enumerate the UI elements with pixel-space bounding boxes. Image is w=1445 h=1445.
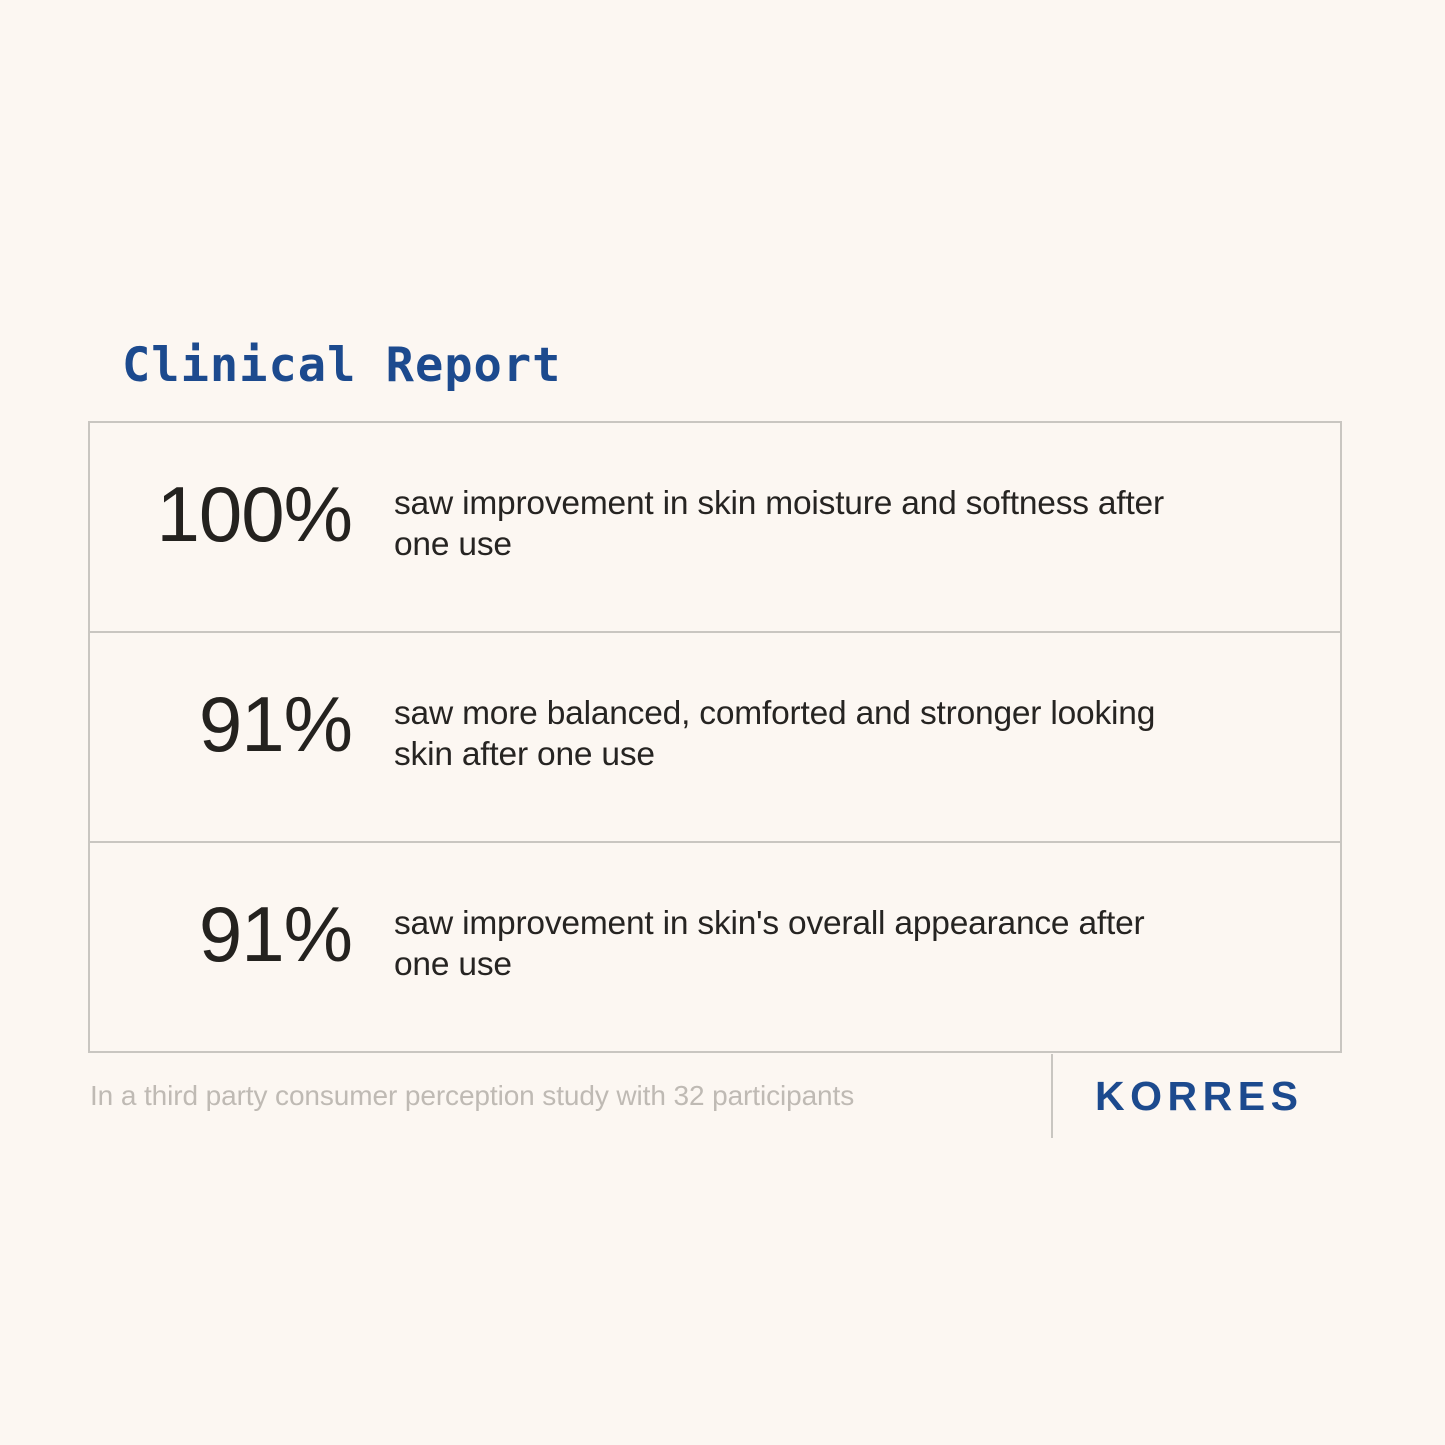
stat-row-content: 100% saw improvement in skin moisture an… bbox=[104, 477, 1320, 566]
stat-description: saw improvement in skin moisture and sof… bbox=[394, 477, 1194, 566]
study-footnote: In a third party consumer perception stu… bbox=[90, 1053, 854, 1139]
clinical-report-card: Clinical Report 100% saw improvement in … bbox=[0, 0, 1445, 1445]
stats-table: 100% saw improvement in skin moisture an… bbox=[88, 421, 1342, 1053]
stat-description: saw improvement in skin's overall appear… bbox=[394, 897, 1194, 986]
table-row: 91% saw improvement in skin's overall ap… bbox=[90, 841, 1340, 1051]
stat-description: saw more balanced, comforted and stronge… bbox=[394, 687, 1194, 776]
page-title: Clinical Report bbox=[122, 340, 561, 392]
stat-row-content: 91% saw improvement in skin's overall ap… bbox=[104, 897, 1320, 986]
table-row: 100% saw improvement in skin moisture an… bbox=[90, 423, 1340, 631]
stat-percentage: 91% bbox=[104, 687, 394, 761]
stat-percentage: 91% bbox=[104, 897, 394, 971]
stat-row-content: 91% saw more balanced, comforted and str… bbox=[104, 687, 1320, 776]
korres-brand-logo: KORRES bbox=[1051, 1053, 1342, 1139]
footer: In a third party consumer perception stu… bbox=[88, 1053, 1342, 1139]
table-row: 91% saw more balanced, comforted and str… bbox=[90, 631, 1340, 841]
stat-percentage: 100% bbox=[104, 477, 394, 551]
